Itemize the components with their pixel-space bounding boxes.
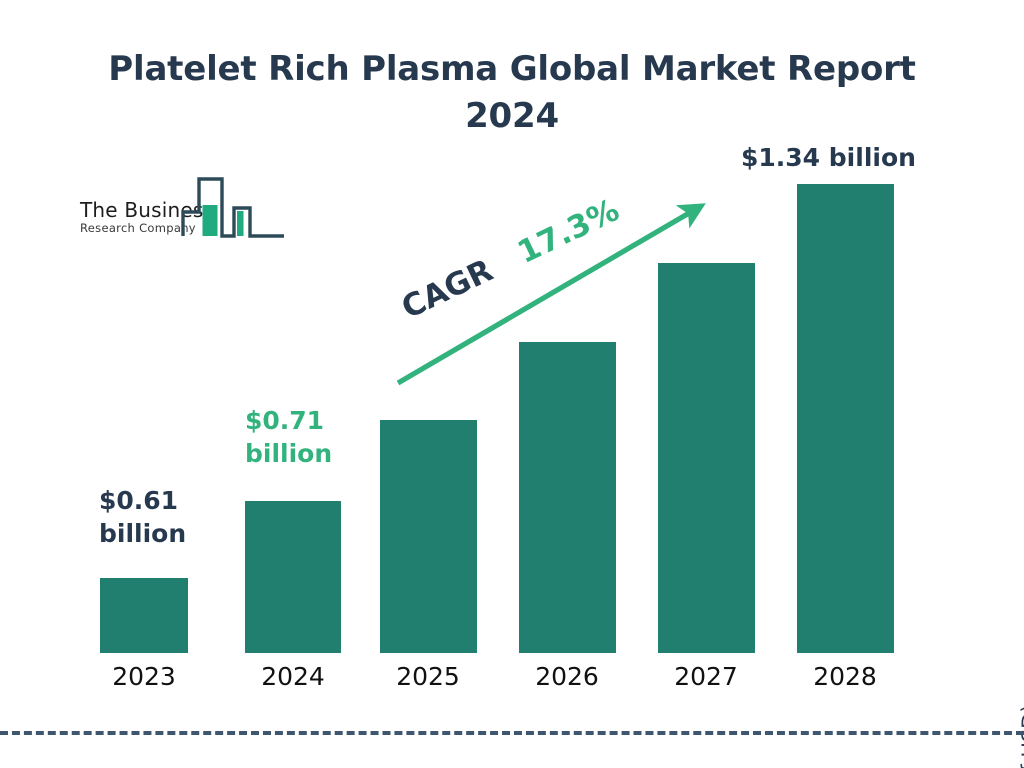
x-tick-2024: 2024 xyxy=(243,662,343,691)
bar-2023 xyxy=(100,578,188,653)
bar-2025 xyxy=(380,420,477,653)
bar-2026 xyxy=(519,342,616,653)
y-axis-title-text: Market Size (in billions of USD) xyxy=(1018,666,1024,768)
chart-canvas: Platelet Rich Plasma Global Market Repor… xyxy=(0,0,1024,768)
footer-divider xyxy=(0,731,1024,735)
x-tick-2027: 2027 xyxy=(656,662,756,691)
y-axis-title: Market Size (in billions of USD) xyxy=(1018,666,1024,768)
data-label-2028: $1.34 billion xyxy=(741,141,916,174)
bar-2024 xyxy=(245,501,341,653)
bar-2028 xyxy=(797,184,894,653)
data-label-2024: $0.71 billion xyxy=(245,404,332,470)
x-tick-2023: 2023 xyxy=(94,662,194,691)
bar-2027 xyxy=(658,263,755,653)
x-tick-2026: 2026 xyxy=(517,662,617,691)
data-label-2023: $0.61 billion xyxy=(99,484,186,550)
x-tick-2025: 2025 xyxy=(378,662,478,691)
plot-area xyxy=(0,0,1024,768)
x-tick-2028: 2028 xyxy=(795,662,895,691)
